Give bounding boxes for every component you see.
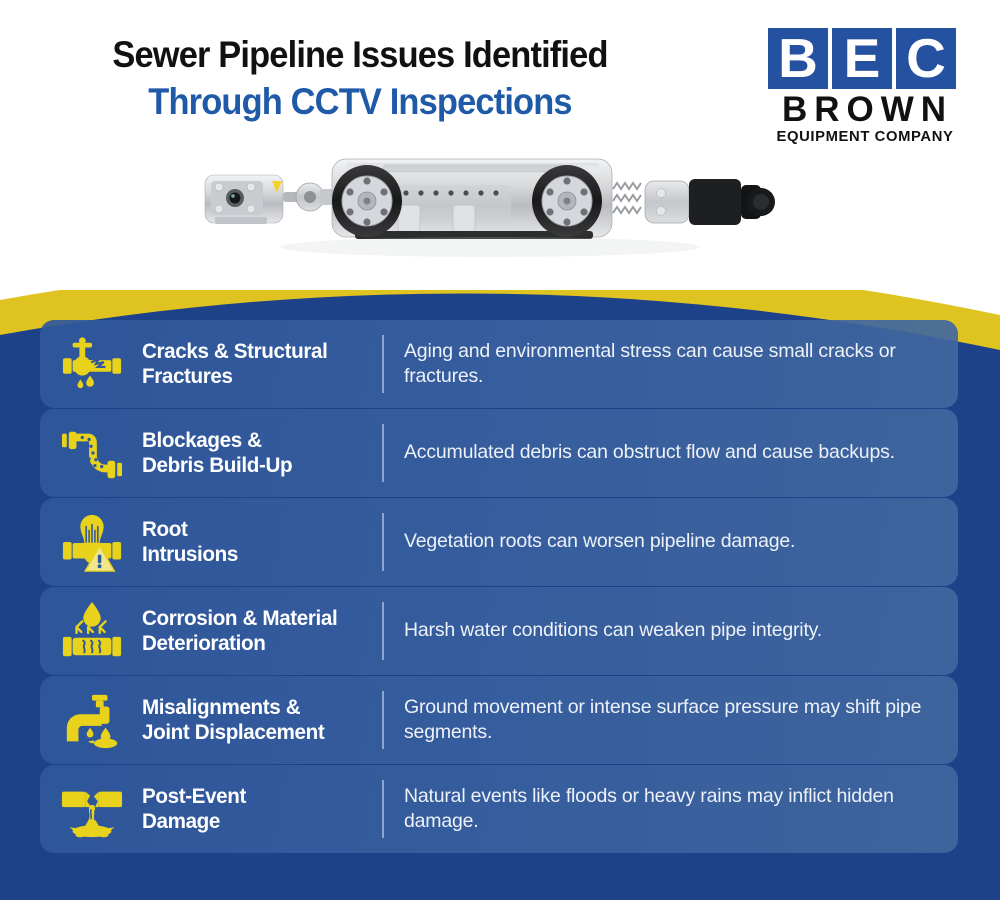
cctv-crawler-robot-image [195,145,785,260]
title-line-1: Sewer Pipeline Issues Identified [53,34,667,75]
issue-title-line-1: Blockages & [142,428,372,453]
logo-tagline: EQUIPMENT COMPANY [766,129,964,145]
issue-row-blockages[interactable]: Blockages & Debris Build-Up Accumulated … [0,409,1000,497]
row-divider [382,691,384,749]
row-divider [382,602,384,660]
issue-description: Harsh water conditions can weaken pipe i… [404,618,1000,643]
misaligned-joint-faucet-icon [42,689,142,751]
poster-header: Sewer Pipeline Issues Identified Through… [0,0,1000,290]
issue-title-line-2: Debris Build-Up [142,453,372,478]
title-line-2: Through CCTV Inspections [53,81,667,122]
issue-title-line-2: Intrusions [142,542,372,567]
infographic-poster: Sewer Pipeline Issues Identified Through… [0,0,1000,900]
issue-description: Vegetation roots can worsen pipeline dam… [404,529,1000,554]
issue-title-line-1: Post-Event [142,784,372,809]
row-divider [382,513,384,571]
logo-letter-c: C [896,28,956,89]
issue-title-line-2: Joint Displacement [142,720,372,745]
issue-row-cracks[interactable]: Cracks & Structural Fractures Aging and … [0,320,1000,408]
logo-brand-name: BROWN [768,92,962,128]
issue-title: Corrosion & Material Deterioration [142,606,372,657]
issue-title-line-1: Cracks & Structural [142,339,372,364]
issue-row-post-event[interactable]: Post-Event Damage Natural events like fl… [0,765,1000,853]
issue-row-misalignments[interactable]: Misalignments & Joint Displacement Groun… [0,676,1000,764]
cracked-pipe-dripping-icon [42,333,142,395]
issues-list: Cracks & Structural Fractures Aging and … [0,320,1000,854]
brand-logo: B E C BROWN EQUIPMENT COMPANY [768,28,962,145]
corroded-pipe-droplet-icon [42,600,142,662]
crawler-robot-icon [195,145,785,260]
row-divider [382,780,384,838]
issue-title-line-2: Damage [142,809,372,834]
issue-title: Root Intrusions [142,517,372,568]
row-divider [382,424,384,482]
burst-pipe-flood-icon [42,778,142,840]
root-intrusion-warning-icon [42,511,142,573]
clogged-pipe-debris-icon [42,422,142,484]
issue-row-roots[interactable]: Root Intrusions Vegetation roots can wor… [0,498,1000,586]
logo-letter-e: E [832,28,892,89]
issue-title-line-1: Corrosion & Material [142,606,372,631]
issue-title: Cracks & Structural Fractures [142,339,372,390]
issue-row-corrosion[interactable]: Corrosion & Material Deterioration Harsh… [0,587,1000,675]
issue-description: Aging and environmental stress can cause… [404,339,1000,390]
issue-title-line-1: Root [142,517,372,542]
issue-title: Post-Event Damage [142,784,372,835]
row-divider [382,335,384,393]
logo-letter-b: B [768,28,828,89]
issue-description: Ground movement or intense surface press… [404,695,1000,746]
issue-description: Accumulated debris can obstruct flow and… [404,440,1000,465]
issue-title: Blockages & Debris Build-Up [142,428,372,479]
page-title: Sewer Pipeline Issues Identified Through… [30,34,690,123]
issue-title-line-2: Deterioration [142,631,372,656]
issue-description: Natural events like floods or heavy rain… [404,784,1000,835]
logo-letter-squares: B E C [768,28,962,89]
issue-title: Misalignments & Joint Displacement [142,695,372,746]
issue-title-line-2: Fractures [142,364,372,389]
issue-title-line-1: Misalignments & [142,695,372,720]
